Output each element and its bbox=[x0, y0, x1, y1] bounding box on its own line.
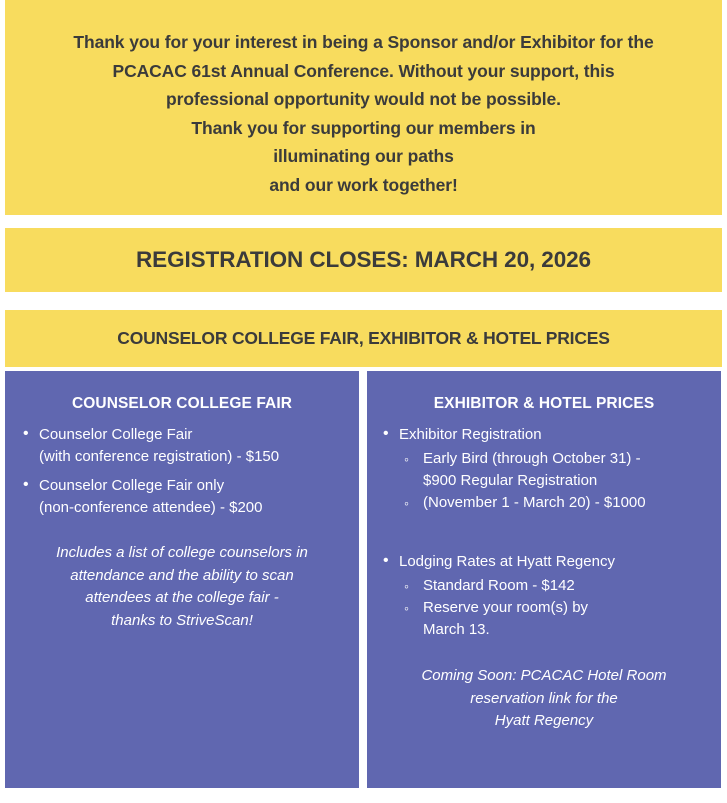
list-item: (November 1 - March 20) - $1000 bbox=[399, 492, 721, 514]
note-line: Hyatt Regency bbox=[495, 712, 593, 729]
price-line: Standard Room - $142 bbox=[423, 577, 575, 594]
price-line: March 13. bbox=[423, 621, 490, 638]
prices-section-header-banner: COUNSELOR COLLEGE FAIR, EXHIBITOR & HOTE… bbox=[5, 310, 722, 367]
intro-banner: Thank you for your interest in being a S… bbox=[5, 0, 722, 215]
note-line: thanks to StriveScan! bbox=[111, 612, 253, 629]
exhibitor-hotel-prices-panel: EXHIBITOR & HOTEL PRICES Exhibitor Regis… bbox=[367, 371, 721, 788]
intro-line-3: professional opportunity would not be po… bbox=[13, 85, 714, 114]
note-line: Includes a list of college counselors in bbox=[56, 544, 308, 561]
price-line: Counselor College Fair only bbox=[39, 477, 224, 494]
exhibitor-hotel-prices-title: EXHIBITOR & HOTEL PRICES bbox=[367, 371, 721, 417]
intro-line-5: illuminating our paths bbox=[13, 142, 714, 171]
list-item: Counselor College Fair (with conference … bbox=[5, 424, 359, 468]
list-item: Counselor College Fair only (non-confere… bbox=[5, 475, 359, 519]
flyer-page: Thank you for your interest in being a S… bbox=[0, 0, 727, 803]
counselor-college-fair-note: Includes a list of college counselors in… bbox=[5, 542, 359, 632]
list-item: Lodging Rates at Hyatt Regency Standard … bbox=[367, 551, 721, 641]
panel-spacer bbox=[367, 514, 721, 544]
intro-line-4: Thank you for supporting our members in bbox=[13, 114, 714, 143]
hotel-reservation-note: Coming Soon: PCACAC Hotel Room reservati… bbox=[367, 665, 721, 733]
list-item: Standard Room - $142 bbox=[399, 575, 721, 597]
intro-line-1: Thank you for your interest in being a S… bbox=[13, 28, 714, 57]
note-line: attendance and the ability to scan bbox=[70, 567, 294, 584]
note-line: Coming Soon: PCACAC Hotel Room bbox=[421, 667, 666, 684]
lodging-rates-list: Lodging Rates at Hyatt Regency Standard … bbox=[367, 551, 721, 641]
price-line: (November 1 - March 20) - $1000 bbox=[423, 494, 646, 511]
exhibitor-registration-sublist: Early Bird (through October 31) - $900 R… bbox=[399, 448, 721, 514]
list-item: Early Bird (through October 31) - $900 R… bbox=[399, 448, 721, 492]
group-heading: Exhibitor Registration bbox=[399, 426, 542, 443]
counselor-college-fair-panel: COUNSELOR COLLEGE FAIR Counselor College… bbox=[5, 371, 359, 788]
list-item: Reserve your room(s) by March 13. bbox=[399, 597, 721, 641]
prices-panels: COUNSELOR COLLEGE FAIR Counselor College… bbox=[5, 371, 722, 788]
note-line: attendees at the college fair - bbox=[85, 589, 278, 606]
intro-line-2: PCACAC 61st Annual Conference. Without y… bbox=[13, 57, 714, 86]
prices-section-header-text: COUNSELOR COLLEGE FAIR, EXHIBITOR & HOTE… bbox=[117, 328, 609, 349]
price-line: Reserve your room(s) by bbox=[423, 599, 588, 616]
registration-deadline-banner: REGISTRATION CLOSES: MARCH 20, 2026 bbox=[5, 228, 722, 292]
lodging-rates-sublist: Standard Room - $142 Reserve your room(s… bbox=[399, 575, 721, 641]
group-heading: Lodging Rates at Hyatt Regency bbox=[399, 553, 615, 570]
price-line: (with conference registration) - $150 bbox=[39, 448, 279, 465]
price-line: (non-conference attendee) - $200 bbox=[39, 499, 262, 516]
price-line: Counselor College Fair bbox=[39, 426, 192, 443]
list-item: Exhibitor Registration Early Bird (throu… bbox=[367, 424, 721, 514]
counselor-college-fair-price-list: Counselor College Fair (with conference … bbox=[5, 424, 359, 519]
intro-line-6: and our work together! bbox=[13, 171, 714, 200]
exhibitor-registration-list: Exhibitor Registration Early Bird (throu… bbox=[367, 424, 721, 514]
counselor-college-fair-title: COUNSELOR COLLEGE FAIR bbox=[5, 371, 359, 417]
price-line: $900 Regular Registration bbox=[423, 472, 597, 489]
note-line: reservation link for the bbox=[470, 690, 618, 707]
registration-deadline-text: REGISTRATION CLOSES: MARCH 20, 2026 bbox=[136, 247, 591, 273]
price-line: Early Bird (through October 31) - bbox=[423, 450, 641, 467]
